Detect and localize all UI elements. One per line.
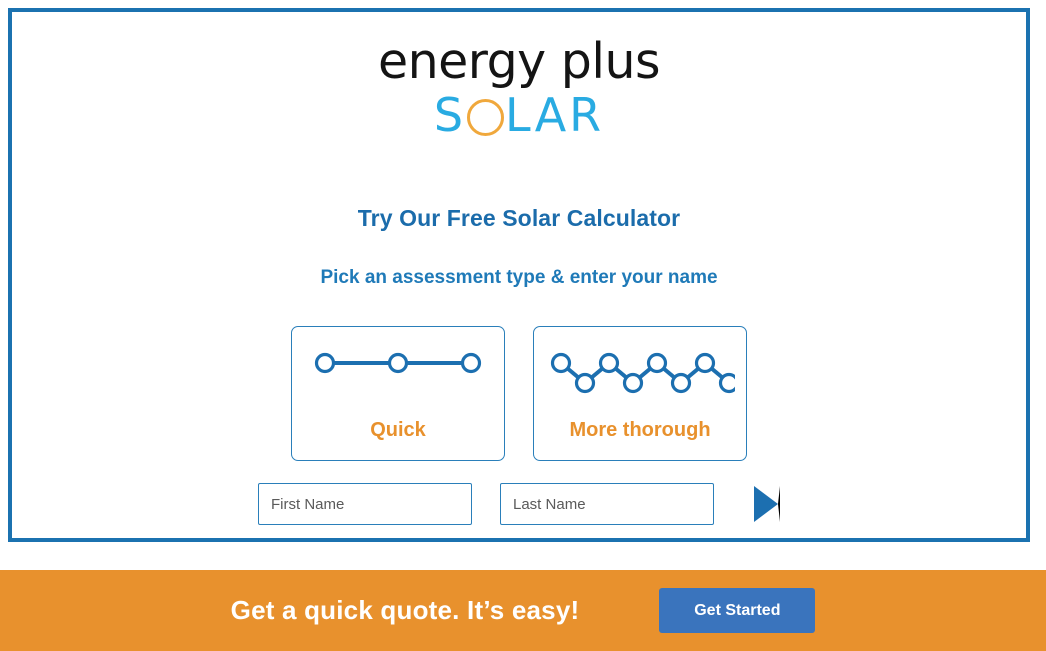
logo-solar-lar: LAR [505,88,604,142]
logo-solar-s: S [434,88,466,142]
page-subtitle: Pick an assessment type & enter your nam… [12,267,1026,289]
play-triangle-right-icon[interactable] [754,486,780,522]
get-started-button[interactable]: Get Started [659,588,815,633]
logo-line-energy-plus: energy plus [12,37,1026,86]
three-node-line-icon [292,349,504,377]
assessment-option-more-thorough[interactable]: More thorough [533,326,747,461]
solar-calculator-panel: energy plus SLAR Try Our Free Solar Calc… [8,8,1030,542]
cta-message: Get a quick quote. It’s easy! [231,595,580,626]
first-name-input[interactable] [258,483,472,525]
bottom-cta-bar: Get a quick quote. It’s easy! Get Starte… [0,570,1046,651]
assessment-option-quick-label: Quick [292,419,504,442]
brand-logo: energy plus SLAR [12,37,1026,138]
name-entry-row [12,483,1026,525]
assessment-type-group: Quick [12,326,1026,461]
last-name-input[interactable] [500,483,714,525]
nine-node-zigzag-icon [534,349,746,397]
sun-ring-icon [467,99,504,136]
assessment-option-more-thorough-label: More thorough [534,419,746,442]
logo-line-solar: SLAR [12,92,1026,138]
assessment-option-quick[interactable]: Quick [291,326,505,461]
page-title: Try Our Free Solar Calculator [12,205,1026,232]
